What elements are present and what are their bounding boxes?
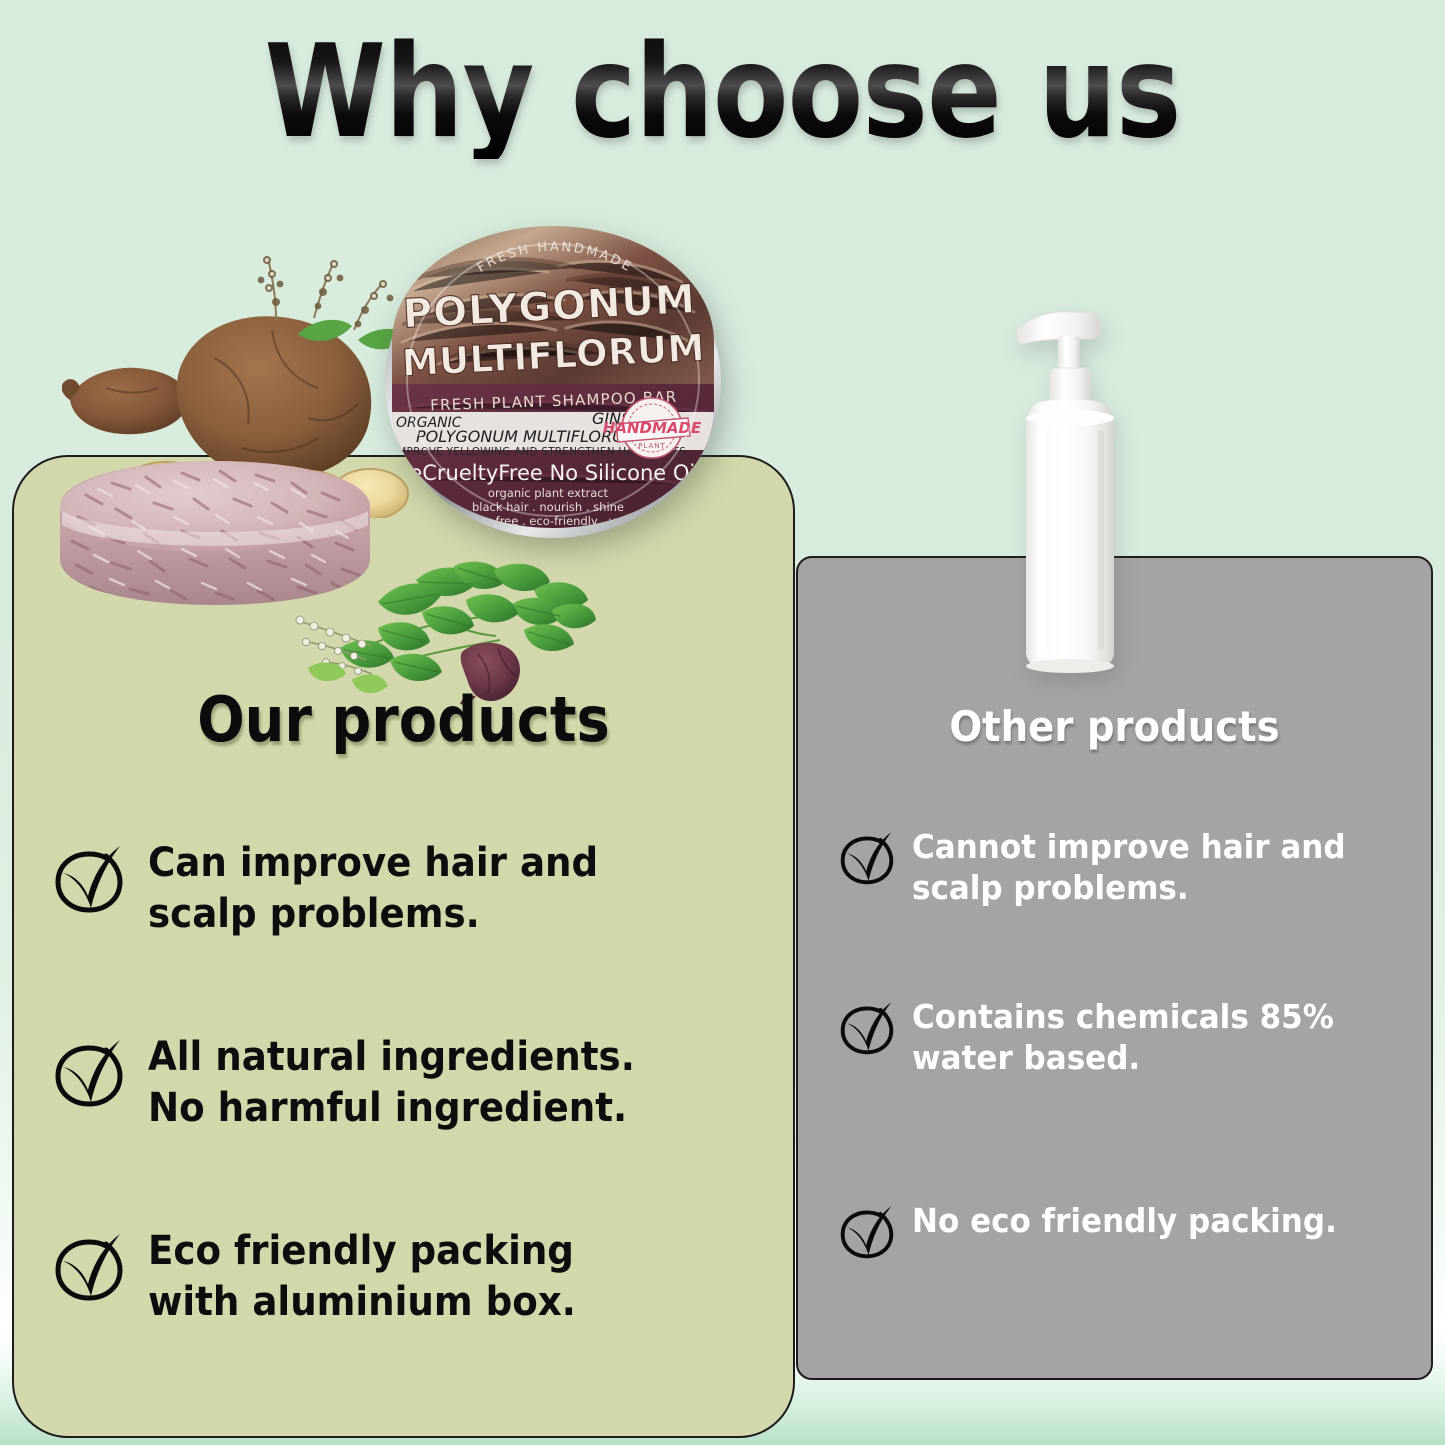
- page-title-wrap: Why choose us: [0, 28, 1445, 159]
- line-1: Cannot improve hair and: [912, 827, 1346, 866]
- line-1: Can improve hair and: [148, 840, 598, 886]
- check-circle-icon: [838, 999, 896, 1062]
- check-circle-icon: [838, 1203, 896, 1266]
- other-products-heading: Other products: [821, 702, 1407, 751]
- tin-name-line1: POLYGONUM: [402, 276, 697, 337]
- infographic-canvas: Why choose us: [0, 0, 1445, 1445]
- line-2: scalp problems.: [148, 891, 480, 937]
- check-circle-icon: [52, 842, 126, 921]
- our-products-item-1: Can improve hair and scalp problems.: [52, 838, 632, 940]
- our-products-item-1-text: Can improve hair and scalp problems.: [148, 838, 598, 940]
- other-products-item-1: Cannot improve hair and scalp problems.: [838, 826, 1373, 909]
- tin-badge-text: HANDMADE: [603, 419, 702, 437]
- check-circle-icon: [838, 829, 896, 892]
- line-2: scalp problems.: [912, 868, 1189, 907]
- other-products-item-3: No eco friendly packing.: [838, 1200, 1364, 1266]
- tin-subtitle: FRESH PLANT SHAMPOO BAR: [430, 388, 678, 415]
- tin-arc-text: FRESH HANDMADE: [475, 240, 635, 276]
- tin-ginseng-label: GINSENG: [592, 409, 666, 428]
- our-products-item-3: Eco friendly packing with aluminium box.: [52, 1226, 608, 1328]
- line-2: No harmful ingredient.: [148, 1085, 627, 1131]
- tin-badge-sub: PLANT: [638, 442, 666, 450]
- tin-name-line2: MULTIFLORUM: [401, 326, 706, 385]
- check-circle-icon: [52, 1036, 126, 1115]
- line-1: Contains chemicals 85%: [912, 997, 1334, 1036]
- check-circle-icon: [52, 1230, 126, 1309]
- page-title: Why choose us: [265, 28, 1181, 159]
- tin-organic-label: ORGANIC: [396, 415, 462, 431]
- line-1: Eco friendly packing: [148, 1228, 574, 1274]
- line-1: All natural ingredients.: [148, 1034, 635, 1080]
- our-products-item-2-text: All natural ingredients. No harmful ingr…: [148, 1032, 635, 1134]
- other-products-item-3-text: No eco friendly packing.: [912, 1200, 1337, 1241]
- our-products-item-2: All natural ingredients. No harmful ingr…: [52, 1032, 671, 1134]
- line-2: water based.: [912, 1038, 1140, 1077]
- other-products-item-2: Contains chemicals 85% water based.: [838, 996, 1361, 1079]
- our-products-item-3-text: Eco friendly packing with aluminium box.: [148, 1226, 576, 1328]
- line-2: with aluminium box.: [148, 1279, 576, 1325]
- other-products-item-2-text: Contains chemicals 85% water based.: [912, 996, 1334, 1079]
- other-products-item-1-text: Cannot improve hair and scalp problems.: [912, 826, 1346, 909]
- tin-organic-name: POLYGONUM MULTIFLORUM: [416, 427, 638, 446]
- our-products-heading: Our products: [51, 683, 756, 756]
